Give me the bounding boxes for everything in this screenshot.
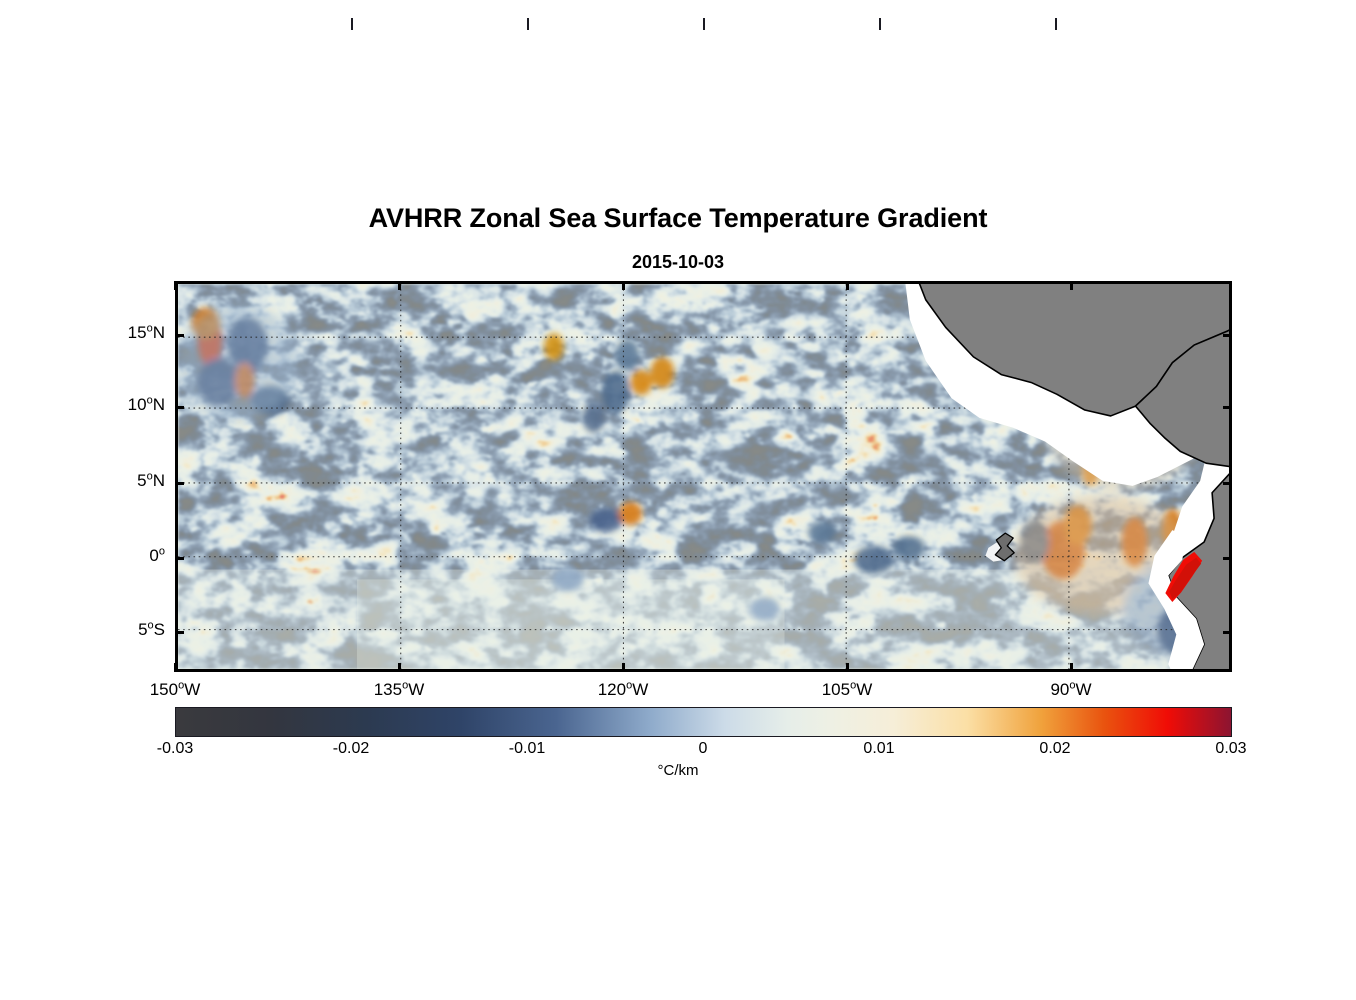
y-tick-mark-right-2 <box>1223 482 1232 485</box>
y-tick-mark-right-0 <box>1223 334 1232 337</box>
x-tick-mark-top-1 <box>398 281 401 290</box>
y-tick-label-1: 10oN <box>103 395 165 415</box>
colorbar-tick-2 <box>527 18 529 30</box>
x-tick-mark-top-4 <box>1070 281 1073 290</box>
y-tick-label-0: 15oN <box>103 323 165 343</box>
x-tick-mark-1 <box>398 663 401 672</box>
y-tick-mark-1 <box>175 406 184 409</box>
colorbar-tick-3 <box>703 18 705 30</box>
colorbar-tick-4 <box>879 18 881 30</box>
x-tick-label-2: 120oW <box>563 680 683 700</box>
figure-subtitle: 2015-10-03 <box>0 252 1356 273</box>
figure-canvas: AVHRR Zonal Sea Surface Temperature Grad… <box>0 0 1356 1000</box>
colorbar-unit-label: °C/km <box>0 762 1356 779</box>
x-tick-label-3: 105oW <box>787 680 907 700</box>
colorbar-tick-label-0: -0.03 <box>115 740 235 758</box>
x-tick-mark-2 <box>622 663 625 672</box>
x-tick-mark-top-2 <box>622 281 625 290</box>
colorbar <box>175 707 1232 737</box>
x-tick-mark-top-3 <box>846 281 849 290</box>
x-tick-mark-4 <box>1070 663 1073 672</box>
colorbar-tick-label-3: 0 <box>643 740 763 758</box>
y-tick-mark-3 <box>175 557 184 560</box>
y-tick-mark-right-4 <box>1223 631 1232 634</box>
figure-title: AVHRR Zonal Sea Surface Temperature Grad… <box>0 203 1356 234</box>
y-tick-label-4: 5oS <box>103 620 165 640</box>
y-tick-label-3: 0o <box>103 546 165 566</box>
x-tick-mark-top-0 <box>174 281 177 290</box>
x-tick-label-4: 90oW <box>1011 680 1131 700</box>
colorbar-tick-label-6: 0.03 <box>1171 740 1291 758</box>
y-tick-label-2: 5oN <box>103 471 165 491</box>
y-tick-mark-0 <box>175 334 184 337</box>
y-tick-mark-right-3 <box>1223 557 1232 560</box>
colorbar-tick-label-5: 0.02 <box>995 740 1115 758</box>
y-tick-mark-4 <box>175 631 184 634</box>
colorbar-gradient <box>176 708 1231 736</box>
x-tick-label-0: 150oW <box>115 680 235 700</box>
map-axes <box>175 281 1232 672</box>
colorbar-tick-label-2: -0.01 <box>467 740 587 758</box>
x-tick-mark-0 <box>174 663 177 672</box>
colorbar-tick-1 <box>351 18 353 30</box>
y-tick-mark-right-1 <box>1223 406 1232 409</box>
sst-gradient-heatmap <box>178 284 1229 669</box>
colorbar-tick-label-1: -0.02 <box>291 740 411 758</box>
x-tick-label-1: 135oW <box>339 680 459 700</box>
x-tick-mark-3 <box>846 663 849 672</box>
colorbar-tick-5 <box>1055 18 1057 30</box>
y-tick-mark-2 <box>175 482 184 485</box>
colorbar-tick-label-4: 0.01 <box>819 740 939 758</box>
